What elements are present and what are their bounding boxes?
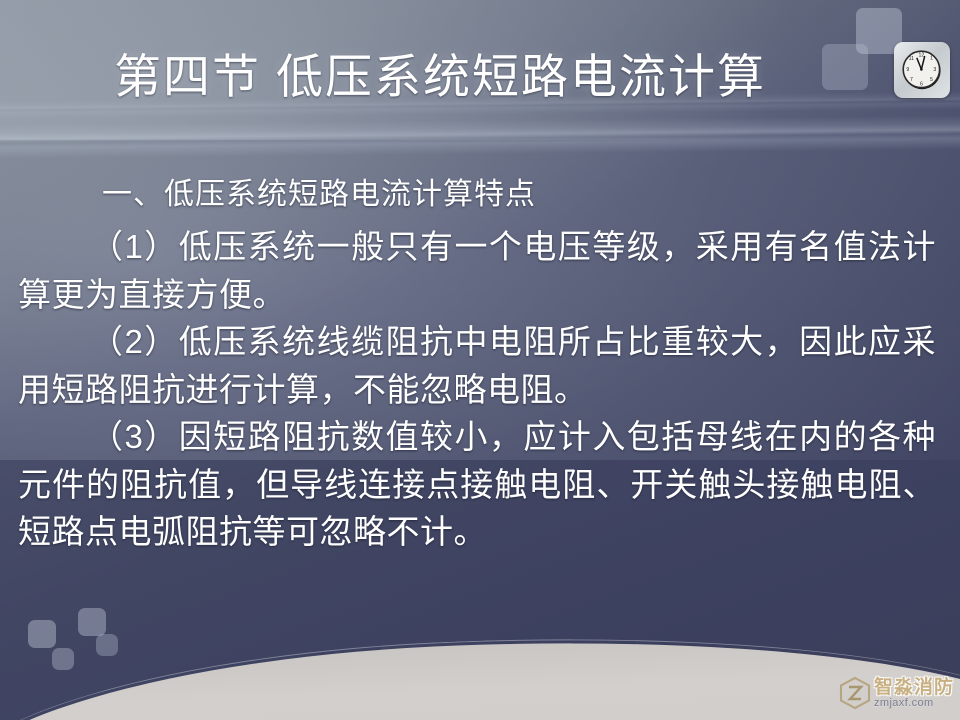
- body-paragraph-3: （3）因短路阻抗数值较小，应计入包括母线在内的各种元件的阻抗值，但导线连接点接触…: [18, 413, 936, 556]
- watermark-url: zmjaxf.com: [874, 698, 934, 709]
- watermark-text: 智淼消防 zmjaxf.com: [874, 678, 954, 709]
- section-heading: 一、低压系统短路电流计算特点: [18, 176, 936, 214]
- slide-title: 第四节 低压系统短路电流计算: [0, 52, 880, 101]
- slide-canvas: 12 1 3 5 6 7 9 11 第四节 低压系统短路电流计算 一、低压系统短…: [0, 0, 960, 720]
- decorative-square-bottom-left-2: [52, 648, 74, 670]
- body-paragraph-1: （1）低压系统一般只有一个电压等级，采用有名值法计算更为直接方便。: [18, 223, 936, 318]
- decorative-square-bottom-left-1: [28, 620, 56, 648]
- logo-mark-icon: [838, 676, 872, 710]
- svg-text:12: 12: [919, 52, 925, 58]
- body-paragraph-2: （2）低压系统线缆阻抗中电阻所占比重较大，因此应采用短路阻抗进行计算，不能忽略电…: [18, 318, 936, 413]
- decorative-square-bottom-left-4: [96, 634, 118, 656]
- svg-text:11: 11: [909, 56, 914, 62]
- svg-text:7: 7: [910, 77, 913, 83]
- slide-body: 一、低压系统短路电流计算特点 （1）低压系统一般只有一个电压等级，采用有名值法计…: [0, 176, 960, 556]
- svg-text:1: 1: [930, 56, 933, 62]
- svg-text:9: 9: [906, 67, 909, 73]
- watermark-name: 智淼消防: [874, 678, 954, 697]
- svg-text:6: 6: [920, 82, 923, 88]
- clock-icon: 12 1 3 5 6 7 9 11: [894, 42, 950, 98]
- decorative-square-bottom-left-3: [78, 608, 106, 636]
- svg-text:3: 3: [933, 67, 936, 73]
- watermark: 智淼消防 zmjaxf.com: [838, 670, 954, 716]
- svg-text:5: 5: [930, 77, 933, 83]
